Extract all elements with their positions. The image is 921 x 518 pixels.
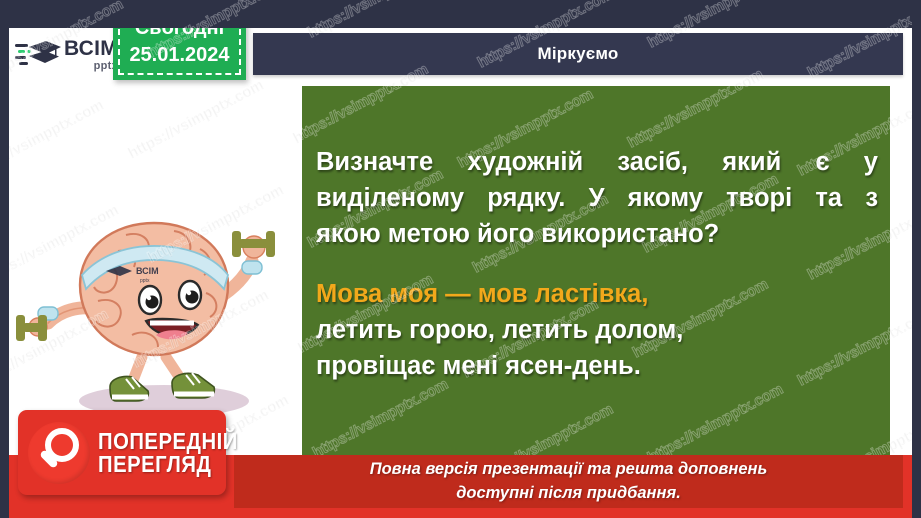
svg-text:pptx: pptx	[140, 278, 150, 284]
watermark-text: https://vsimpptx.com	[0, 96, 106, 182]
slide-title: Міркуємо	[538, 44, 619, 64]
question-line-3: якою метою його використано?	[316, 216, 878, 252]
magnifier-icon	[28, 422, 90, 484]
poem-highlighted-line: Мова моя — мов ластівка,	[316, 276, 878, 312]
preview-badge[interactable]: ПОПЕРЕДНІЙ ПЕРЕГЛЯД	[18, 410, 226, 495]
graduation-cap-icon	[15, 38, 61, 72]
footer-line-2: доступні після придбання.	[456, 482, 681, 505]
footer-line-1: Повна версія презентації та решта доповн…	[370, 458, 768, 481]
content-panel: Визначте художній засіб, який є у виділе…	[302, 86, 890, 467]
svg-text:ВСІМ: ВСІМ	[136, 266, 159, 276]
watermark-text: https://vsimpptx.com	[125, 76, 266, 162]
date-badge-value: 25.01.2024	[129, 42, 229, 69]
brain-mascot-illustration: ВСІМ pptx	[14, 205, 294, 425]
question-line-2: виділеному рядку. У якому творі та з	[316, 180, 878, 216]
question-line-1: Визначте художній засіб, який є у	[316, 144, 878, 180]
logo-text-main: ВСІМ	[64, 38, 118, 59]
presentation-slide: ВСІМ pptx Сьогодні 25.01.2024 Міркуємо В…	[0, 0, 921, 518]
poem-line-2: летить горою, летить долом,	[316, 312, 878, 348]
footer-message-box: Повна версія презентації та решта доповн…	[234, 455, 903, 508]
right-frame-bar	[912, 0, 921, 518]
poem-line-3: провіщає мені ясен-день.	[316, 348, 878, 384]
logo-text-sub: pptx	[64, 61, 118, 72]
preview-badge-line-2: ПЕРЕГЛЯД	[98, 453, 238, 476]
preview-badge-line-1: ПОПЕРЕДНІЙ	[98, 430, 238, 453]
content-text-block: Визначте художній засіб, який є у виділе…	[316, 144, 878, 384]
top-frame-bar	[0, 0, 921, 28]
left-frame-bar	[0, 0, 9, 518]
slide-title-bar: Міркуємо	[253, 33, 903, 75]
